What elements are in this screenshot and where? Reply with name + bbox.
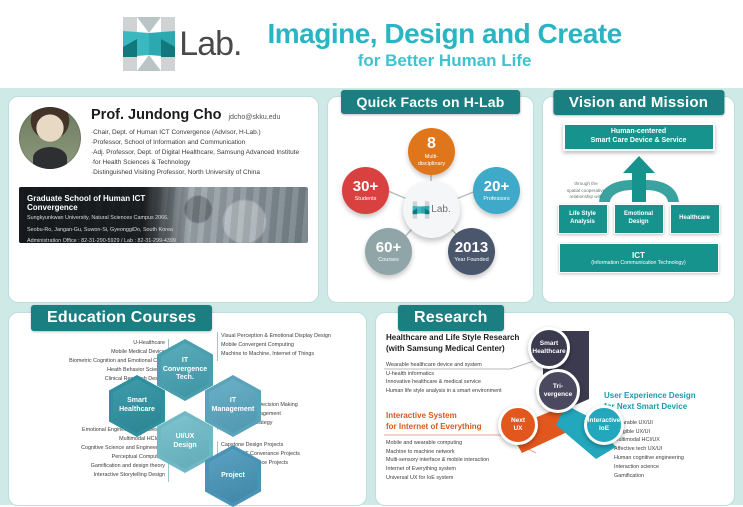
quick-fact-value: 30+	[353, 179, 378, 194]
quick-fact-bubble: 60+ Courses	[365, 228, 412, 275]
hex-it-convergence[interactable]: ITConvergenceTech.	[157, 339, 213, 401]
research-title: Research	[398, 305, 504, 331]
quick-facts-center-logo: Lab.	[403, 181, 460, 238]
professor-email[interactable]: jdcho@skku.edu	[228, 114, 280, 121]
vision-top-line1: Human-centered	[611, 128, 666, 137]
professor-title-line: ·Chair, Dept. of Human ICT Convergence (…	[91, 128, 308, 138]
campus-address-line: Sungkyunkwan University, Natural Science…	[27, 214, 183, 223]
list-item: Visual Perception & Emotional Display De…	[221, 332, 331, 341]
hlab-logo-text: Lab.	[179, 25, 241, 64]
list-smart-healthcare: U-Healthcare Mobile Medical Device Biome…	[11, 339, 165, 384]
professor-titles: ·Chair, Dept. of Human ICT Convergence (…	[91, 128, 308, 178]
professor-title-line: ·Professor, School of Information and Co…	[91, 138, 308, 148]
bottom-row: Education Courses U-Healthcare Mobile Me…	[8, 312, 735, 506]
list-item: Cognitive Science and Engineering	[11, 444, 165, 453]
professor-name-row: Prof. Jundong Cho jdcho@skku.edu	[91, 107, 308, 123]
hex-label: Project	[218, 472, 248, 481]
vision-pillar: Healthcare	[670, 204, 720, 234]
campus-photo: Graduate School of Human ICT Convergence…	[19, 187, 308, 243]
quick-fact-value: 20+	[484, 179, 509, 194]
quick-fact-bubble: 30+ Students	[342, 167, 389, 214]
quick-fact-bubble: 8 Multi-disciplinary	[408, 128, 455, 175]
list-item: Interactive Storytelling Design	[11, 471, 165, 480]
page-header: Lab. Imagine, Design and Create for Bett…	[0, 0, 743, 88]
slogan-sub: for Better Human Life	[267, 51, 621, 71]
list-item: U-Healthcare	[11, 339, 165, 348]
quick-fact-bubble: 2013 Year Founded	[448, 228, 495, 275]
list-item: Multimodal HCI/UX	[11, 435, 165, 444]
vision-top-line2: Smart Care Device & Service	[591, 137, 687, 146]
list-item: Universal UX for IoE system	[386, 474, 576, 483]
list-connector	[217, 332, 218, 361]
quick-fact-label: Multi-disciplinary	[418, 154, 445, 167]
quick-fact-label: Courses	[378, 257, 398, 263]
list-item: Mobile Medical Device	[11, 348, 165, 357]
quick-facts-diagram: 8 Multi-disciplinary 30+ Students 20+ Pr…	[328, 97, 533, 302]
professor-header: Prof. Jundong Cho jdcho@skku.edu ·Chair,…	[19, 107, 308, 178]
vision-mission-panel: Vision and Mission Human-centered Smart …	[542, 96, 735, 303]
quick-fact-label: Year Founded	[454, 257, 488, 263]
list-item: Biometric Cognition and Emotional Care	[11, 357, 165, 366]
professor-card: Prof. Jundong Cho jdcho@skku.edu ·Chair,…	[8, 96, 319, 303]
hex-label: SmartHealthcare	[116, 397, 158, 415]
list-item: Heath Behavior Science	[11, 366, 165, 375]
hlab-mini-logo-text: Lab.	[431, 204, 450, 215]
hex-label: UI/UXDesign	[170, 433, 199, 451]
research-diagram: Healthcare and Life Style Research (with…	[376, 313, 734, 505]
quick-fact-bubble: 20+ Professors	[473, 167, 520, 214]
education-title: Education Courses	[31, 305, 212, 331]
vision-pillars: Life StyleAnalysis EmotionalDesign Healt…	[553, 204, 724, 234]
quick-fact-value: 2013	[455, 240, 488, 255]
top-row: Prof. Jundong Cho jdcho@skku.edu ·Chair,…	[8, 96, 735, 303]
vision-mission-diagram: Human-centered Smart Care Device & Servi…	[543, 97, 734, 302]
slogan-main: Imagine, Design and Create	[267, 18, 621, 50]
list-item: Machine to Machine, Internet of Things	[221, 350, 331, 359]
campus-address-line: Seobu-Ro, Jangan-Gu, Suwon-Si, GyeonggiD…	[27, 226, 183, 235]
circle-next-ux[interactable]: NextUX	[498, 405, 538, 445]
poster-body: Prof. Jundong Cho jdcho@skku.edu ·Chair,…	[0, 88, 743, 505]
professor-name: Prof. Jundong Cho	[91, 107, 221, 123]
quick-facts-title: Quick Facts on H-Lab	[341, 90, 521, 114]
vision-top-box: Human-centered Smart Care Device & Servi…	[563, 123, 715, 151]
campus-address-line: Administration Office : 82-31-290-5929 /…	[27, 237, 183, 243]
professor-title-line: ·Distinguished Visiting Professor, North…	[91, 168, 308, 178]
circle-smart-healthcare[interactable]: SmartHealthcare	[528, 327, 570, 369]
quick-facts-panel: Quick Facts on H-Lab 8 Multi-disciplinar…	[327, 96, 534, 303]
hlab-logo-mark	[121, 13, 177, 75]
quick-fact-label: Professors	[483, 196, 509, 202]
hex-label: ITConvergenceTech.	[160, 357, 210, 383]
vision-base-box: ICT (Information Communication Technolog…	[559, 243, 719, 273]
research-panel: Research Healthcare and Life Style Resea…	[375, 312, 735, 506]
professor-title-line: ·for Health Sciences & Technology	[91, 158, 308, 168]
quick-fact-value: 8	[427, 136, 436, 152]
hlab-logo: Lab.	[121, 13, 241, 75]
list-item: Perceptual Computing	[11, 453, 165, 462]
vision-arrow-icon	[553, 156, 724, 202]
hex-label: ITManagement	[209, 397, 258, 415]
quick-fact-value: 60+	[376, 240, 401, 255]
vision-base-sub: (Information Communication Technology)	[591, 260, 685, 266]
vision-base-title: ICT	[632, 251, 645, 260]
vision-pillar: Life StyleAnalysis	[558, 204, 608, 234]
campus-address-overlay: Graduate School of Human ICT Convergence…	[19, 187, 191, 243]
campus-title: Graduate School of Human ICT Convergence	[27, 194, 183, 212]
education-panel: Education Courses U-Healthcare Mobile Me…	[8, 312, 367, 506]
vision-pillar: EmotionalDesign	[614, 204, 664, 234]
professor-avatar	[19, 107, 81, 169]
slogan: Imagine, Design and Create for Better Hu…	[267, 18, 621, 71]
circle-interactive-ioe[interactable]: InteractiveIoE	[584, 405, 624, 445]
hex-uiux-design[interactable]: UI/UXDesign	[157, 411, 213, 473]
list-item: Mobile Convergent Computing	[221, 341, 331, 350]
education-diagram: U-Healthcare Mobile Medical Device Biome…	[9, 313, 366, 505]
list-item: Gamification and design theory	[11, 462, 165, 471]
circle-trivergence[interactable]: Tri-vergence	[536, 369, 580, 413]
professor-title-line: ·Adj. Professor, Dept. of Digital Health…	[91, 148, 308, 158]
list-it-convergence: Visual Perception & Emotional Display De…	[221, 332, 331, 359]
vision-mission-title: Vision and Mission	[553, 90, 724, 115]
hlab-mini-logo-icon: Lab.	[412, 200, 450, 220]
quick-fact-label: Students	[355, 196, 377, 202]
